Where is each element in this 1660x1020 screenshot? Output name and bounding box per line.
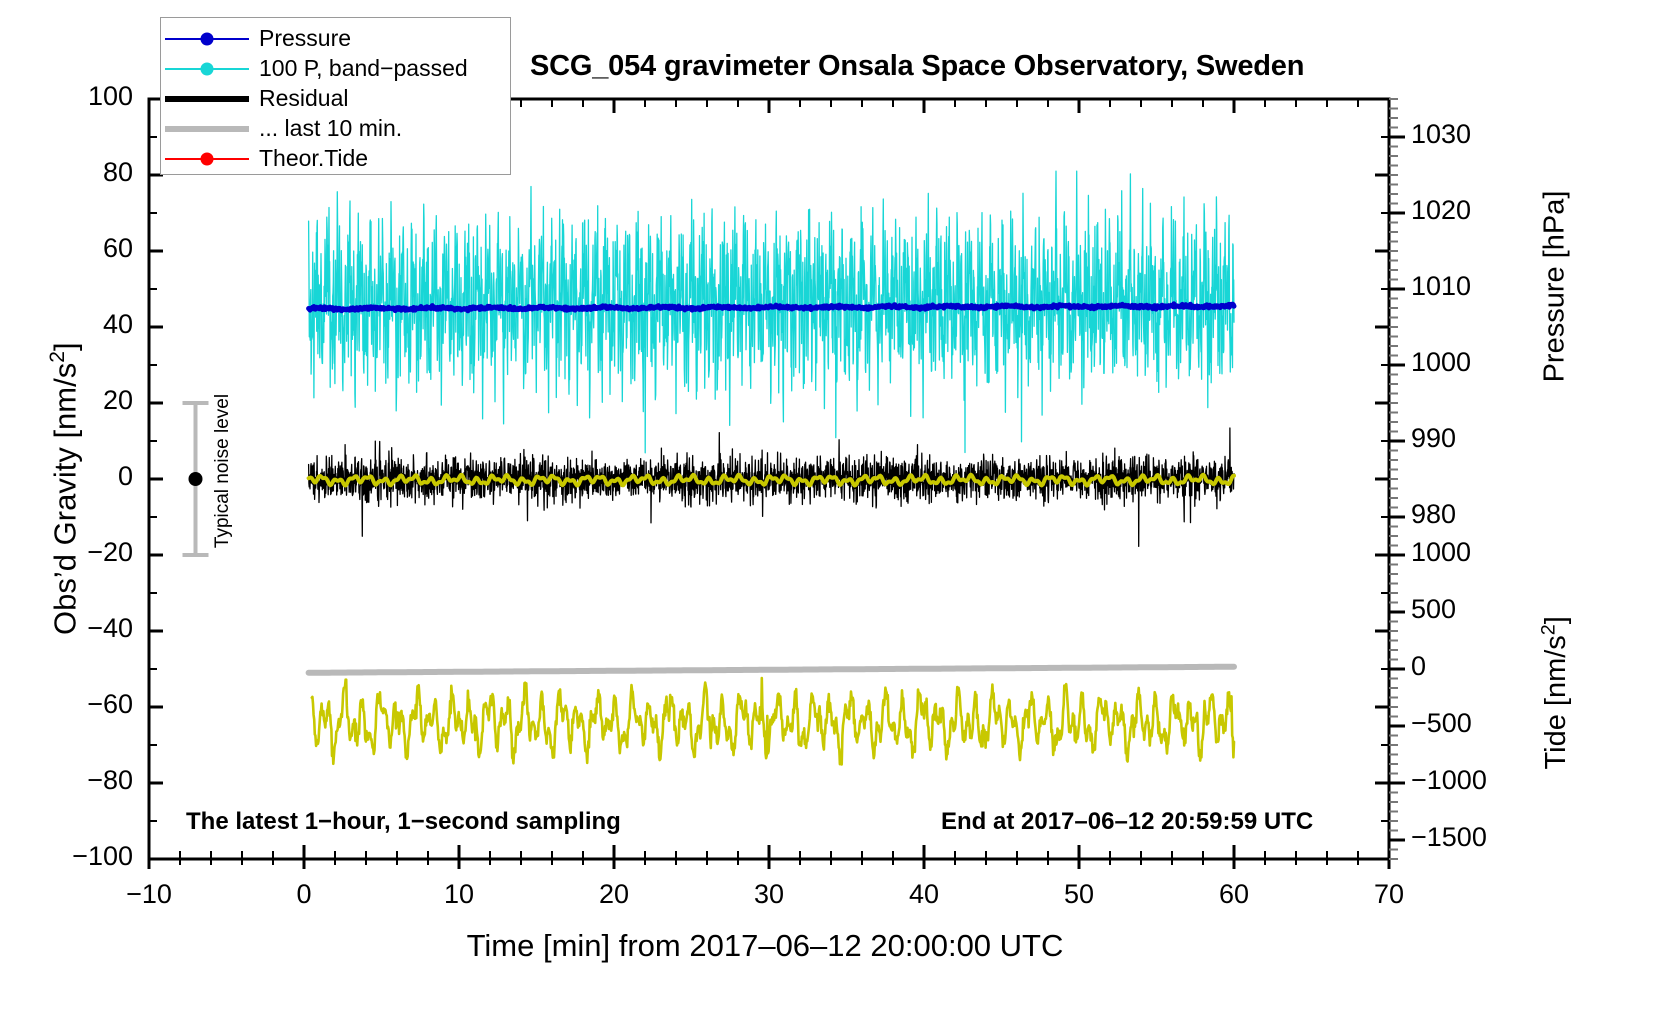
legend-swatch-icon	[161, 27, 253, 51]
y-axis-right-tide-title: Tide [nm/s2]	[1537, 513, 1573, 873]
y-tick--20: −20	[0, 537, 133, 568]
y-tick--60: −60	[0, 689, 133, 720]
bottom-left-note: The latest 1−hour, 1−second sampling	[186, 808, 621, 836]
pressure-tick-990: 990	[1411, 423, 1521, 454]
legend-swatch-icon	[161, 87, 253, 111]
y-tick--100: −100	[0, 841, 133, 872]
legend-label: Theor.Tide	[259, 145, 368, 172]
x-axis-title: Time [min] from 2017–06–12 20:00:00 UTC	[150, 928, 1380, 964]
pressure-tick-1030: 1030	[1411, 119, 1521, 150]
pressure-tick-1020: 1020	[1411, 195, 1521, 226]
y-tick-0: 0	[0, 461, 133, 492]
y-tick-100: 100	[0, 81, 133, 112]
y-axis-right-pressure-title: Pressure [hPa]	[1539, 77, 1572, 497]
x-tick-60: 60	[1174, 879, 1294, 910]
pressure-tick-980: 980	[1411, 499, 1521, 530]
x-tick--10: −10	[89, 879, 209, 910]
x-tick-0: 0	[244, 879, 364, 910]
x-tick-50: 50	[1019, 879, 1139, 910]
y-tick--40: −40	[0, 613, 133, 644]
legend-swatch-icon	[161, 57, 253, 81]
y-tick-60: 60	[0, 233, 133, 264]
x-tick-40: 40	[864, 879, 984, 910]
tide-tick-1000: 1000	[1411, 537, 1541, 568]
legend-item-3[interactable]: ... last 10 min.	[161, 114, 510, 143]
legend-item-4[interactable]: Theor.Tide	[161, 144, 510, 173]
pressure-tick-1010: 1010	[1411, 271, 1521, 302]
page-title: SCG_054 gravimeter Onsala Space Observat…	[530, 50, 1304, 83]
y-tick-80: 80	[0, 157, 133, 188]
y-tick--80: −80	[0, 765, 133, 796]
legend-label: Residual	[259, 85, 349, 112]
legend-swatch-icon	[161, 117, 253, 141]
legend-label: Pressure	[259, 25, 351, 52]
x-tick-70: 70	[1329, 879, 1449, 910]
typical-noise-level-label: Typical noise level	[212, 381, 234, 561]
tide-tick--1000: −1000	[1411, 765, 1541, 796]
y-tick-40: 40	[0, 309, 133, 340]
x-tick-20: 20	[554, 879, 674, 910]
tide-tick--500: −500	[1411, 708, 1541, 739]
bottom-right-note: End at 2017–06–12 20:59:59 UTC	[941, 808, 1313, 836]
legend-swatch-icon	[161, 147, 253, 171]
tide-tick-0: 0	[1411, 651, 1541, 682]
tide-tick-500: 500	[1411, 594, 1541, 625]
legend-label: 100 P, band−passed	[259, 55, 468, 82]
legend-item-2[interactable]: Residual	[161, 84, 510, 113]
y-axis-right-tide-title-text: Tide [nm/s2]	[1540, 616, 1572, 769]
y-tick-20: 20	[0, 385, 133, 416]
chart-legend[interactable]: Pressure100 P, band−passedResidual... la…	[160, 17, 511, 175]
legend-item-1[interactable]: 100 P, band−passed	[161, 54, 510, 83]
pressure-tick-1000: 1000	[1411, 347, 1521, 378]
legend-label: ... last 10 min.	[259, 115, 402, 142]
tide-tick--1500: −1500	[1411, 822, 1541, 853]
x-tick-30: 30	[709, 879, 829, 910]
legend-item-0[interactable]: Pressure	[161, 24, 510, 53]
chart-canvas: SCG_054 gravimeter Onsala Space Observat…	[0, 0, 1660, 1020]
x-tick-10: 10	[399, 879, 519, 910]
